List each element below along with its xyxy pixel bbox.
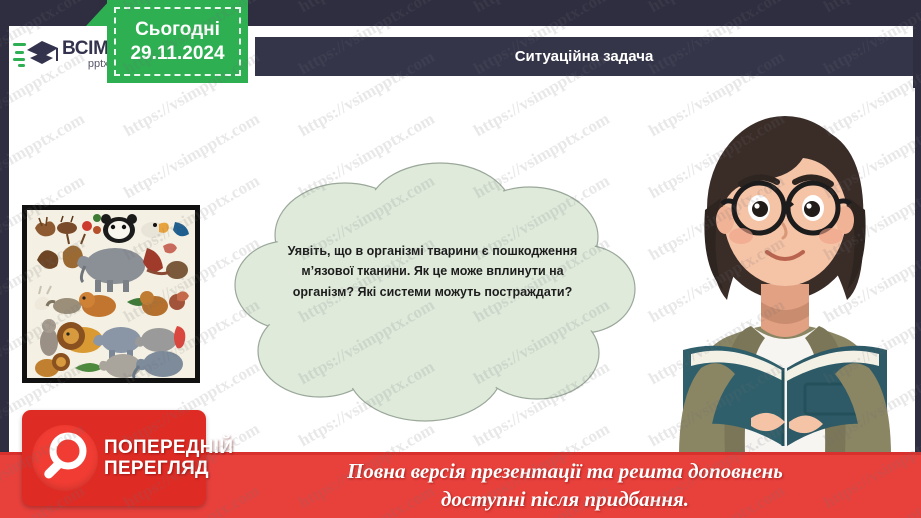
bubble-text: Уявіть, що в організмі тварини є пошкодж… xyxy=(285,241,580,302)
brand-logo: ВСІМ pptx xyxy=(9,26,109,82)
presentation-slide: ВСІМ pptx Сьогодні 29.11.2024 Ситуаційна… xyxy=(0,0,921,518)
footer-line-1: Повна версія презентації та решта доповн… xyxy=(240,457,890,485)
speech-bubble: Уявіть, що в організмі тварини є пошкодж… xyxy=(225,155,640,430)
animal-collage-image xyxy=(22,205,200,383)
left-frame-band xyxy=(0,0,9,518)
today-date-badge: Сьогодні 29.11.2024 xyxy=(107,0,248,83)
page-title: Ситуаційна задача xyxy=(515,48,654,65)
magnifier-icon xyxy=(32,425,98,491)
date-badge-value: 29.11.2024 xyxy=(130,43,224,65)
footer-line-2: доступні після придбання. xyxy=(240,485,890,513)
logo-title: ВСІМ xyxy=(62,39,109,58)
preview-badge-line-2: ПЕРЕГЛЯД xyxy=(104,458,233,479)
logo-subtitle: pptx xyxy=(62,59,109,70)
date-badge-label: Сьогодні xyxy=(135,19,220,41)
graduation-cap-icon xyxy=(13,37,59,71)
preview-badge-line-1: ПОПЕРЕДНІЙ xyxy=(104,437,233,458)
slide-title-bar: Ситуаційна задача xyxy=(255,37,913,76)
woman-reading-book-illustration xyxy=(655,88,915,456)
preview-badge[interactable]: ПОПЕРЕДНІЙ ПЕРЕГЛЯД xyxy=(22,410,206,506)
